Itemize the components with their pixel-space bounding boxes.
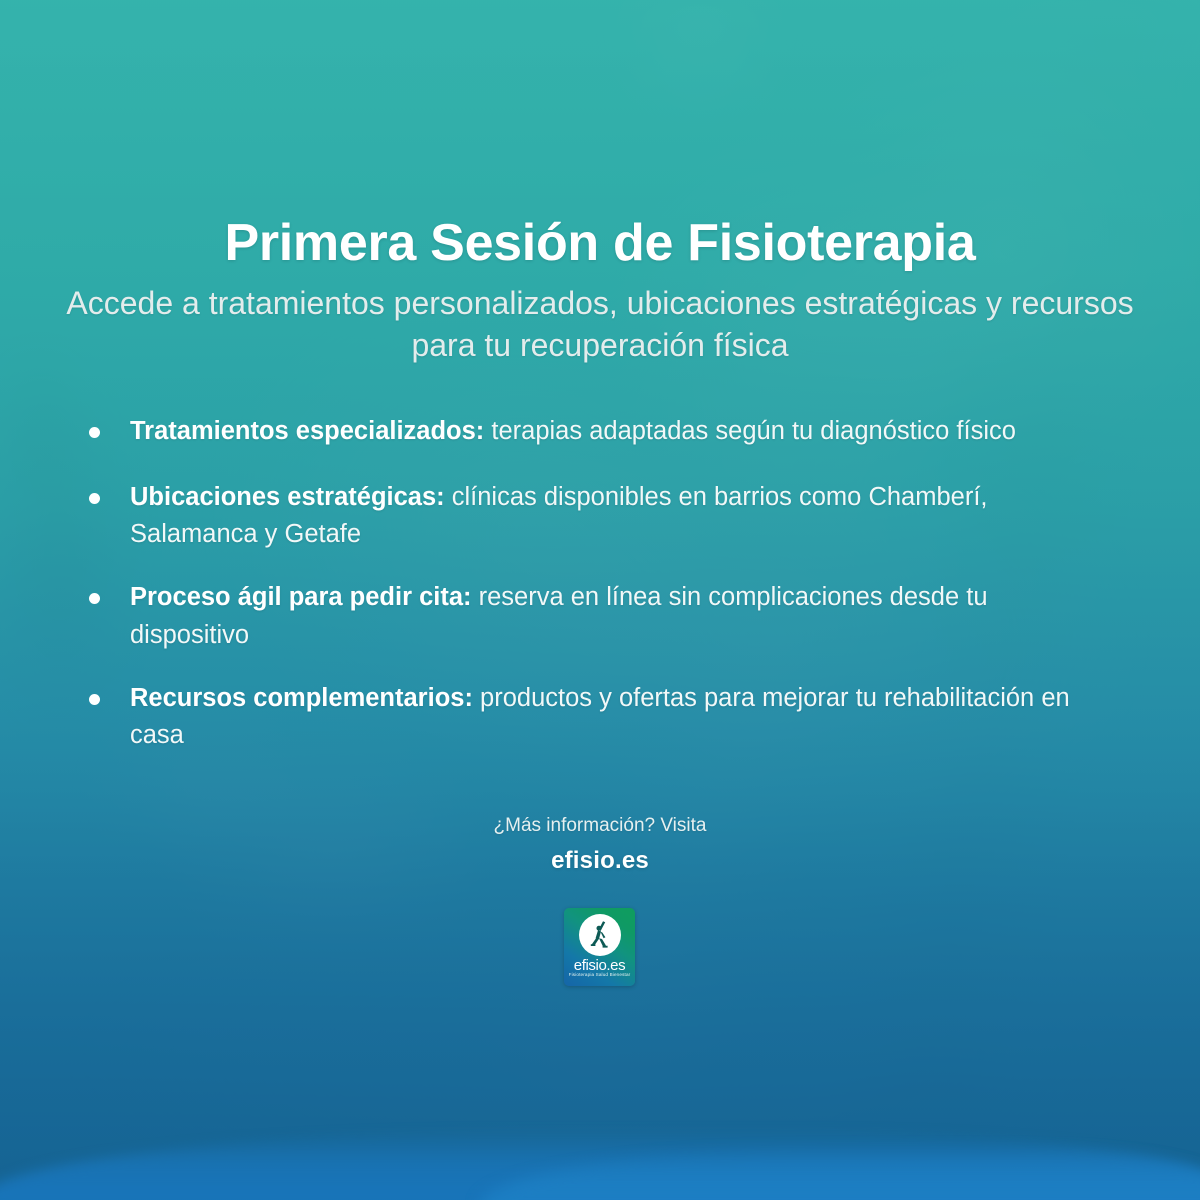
list-item-rest: terapias adaptadas según tu diagnóstico … (484, 417, 1016, 445)
list-item: Tratamientos especializados: terapias ad… (0, 413, 1200, 453)
footer-lead-text: ¿Más información? Visita (0, 815, 1200, 837)
list-item: Proceso ágil para pedir cita: reserva en… (0, 579, 1200, 653)
bullet-dot-icon (89, 427, 100, 438)
bullet-dot-icon (89, 593, 100, 604)
footer-website[interactable]: efisio.es (0, 847, 1200, 875)
list-item-text: Recursos complementarios: productos y of… (130, 680, 1080, 754)
list-item-lead: Proceso ágil para pedir cita: (130, 583, 472, 611)
logo-figure-icon (579, 914, 621, 956)
list-item: Recursos complementarios: productos y of… (0, 680, 1200, 754)
poster-content: Primera Sesión de Fisioterapia Accede a … (0, 0, 1200, 1200)
list-item-lead: Ubicaciones estratégicas: (130, 483, 445, 511)
logo-wordmark: efisio.es (564, 958, 635, 973)
feature-list: Tratamientos especializados: terapias ad… (0, 413, 1200, 780)
list-item-text: Proceso ágil para pedir cita: reserva en… (130, 579, 1080, 653)
page-subtitle: Accede a tratamientos personalizados, ub… (60, 283, 1140, 366)
bullet-dot-icon (89, 493, 100, 504)
list-item-lead: Recursos complementarios: (130, 684, 473, 712)
list-item-text: Tratamientos especializados: terapias ad… (130, 413, 1080, 450)
list-item: Ubicaciones estratégicas: clínicas dispo… (0, 479, 1200, 553)
promo-poster: Primera Sesión de Fisioterapia Accede a … (0, 0, 1200, 1200)
list-item-text: Ubicaciones estratégicas: clínicas dispo… (130, 479, 1080, 553)
page-title: Primera Sesión de Fisioterapia (0, 214, 1200, 272)
logo-tagline: Fisioterapia Salud Bienestar (564, 973, 635, 978)
bullet-dot-icon (89, 694, 100, 705)
efisio-logo[interactable]: efisio.es Fisioterapia Salud Bienestar (564, 908, 635, 986)
list-item-lead: Tratamientos especializados: (130, 417, 484, 445)
